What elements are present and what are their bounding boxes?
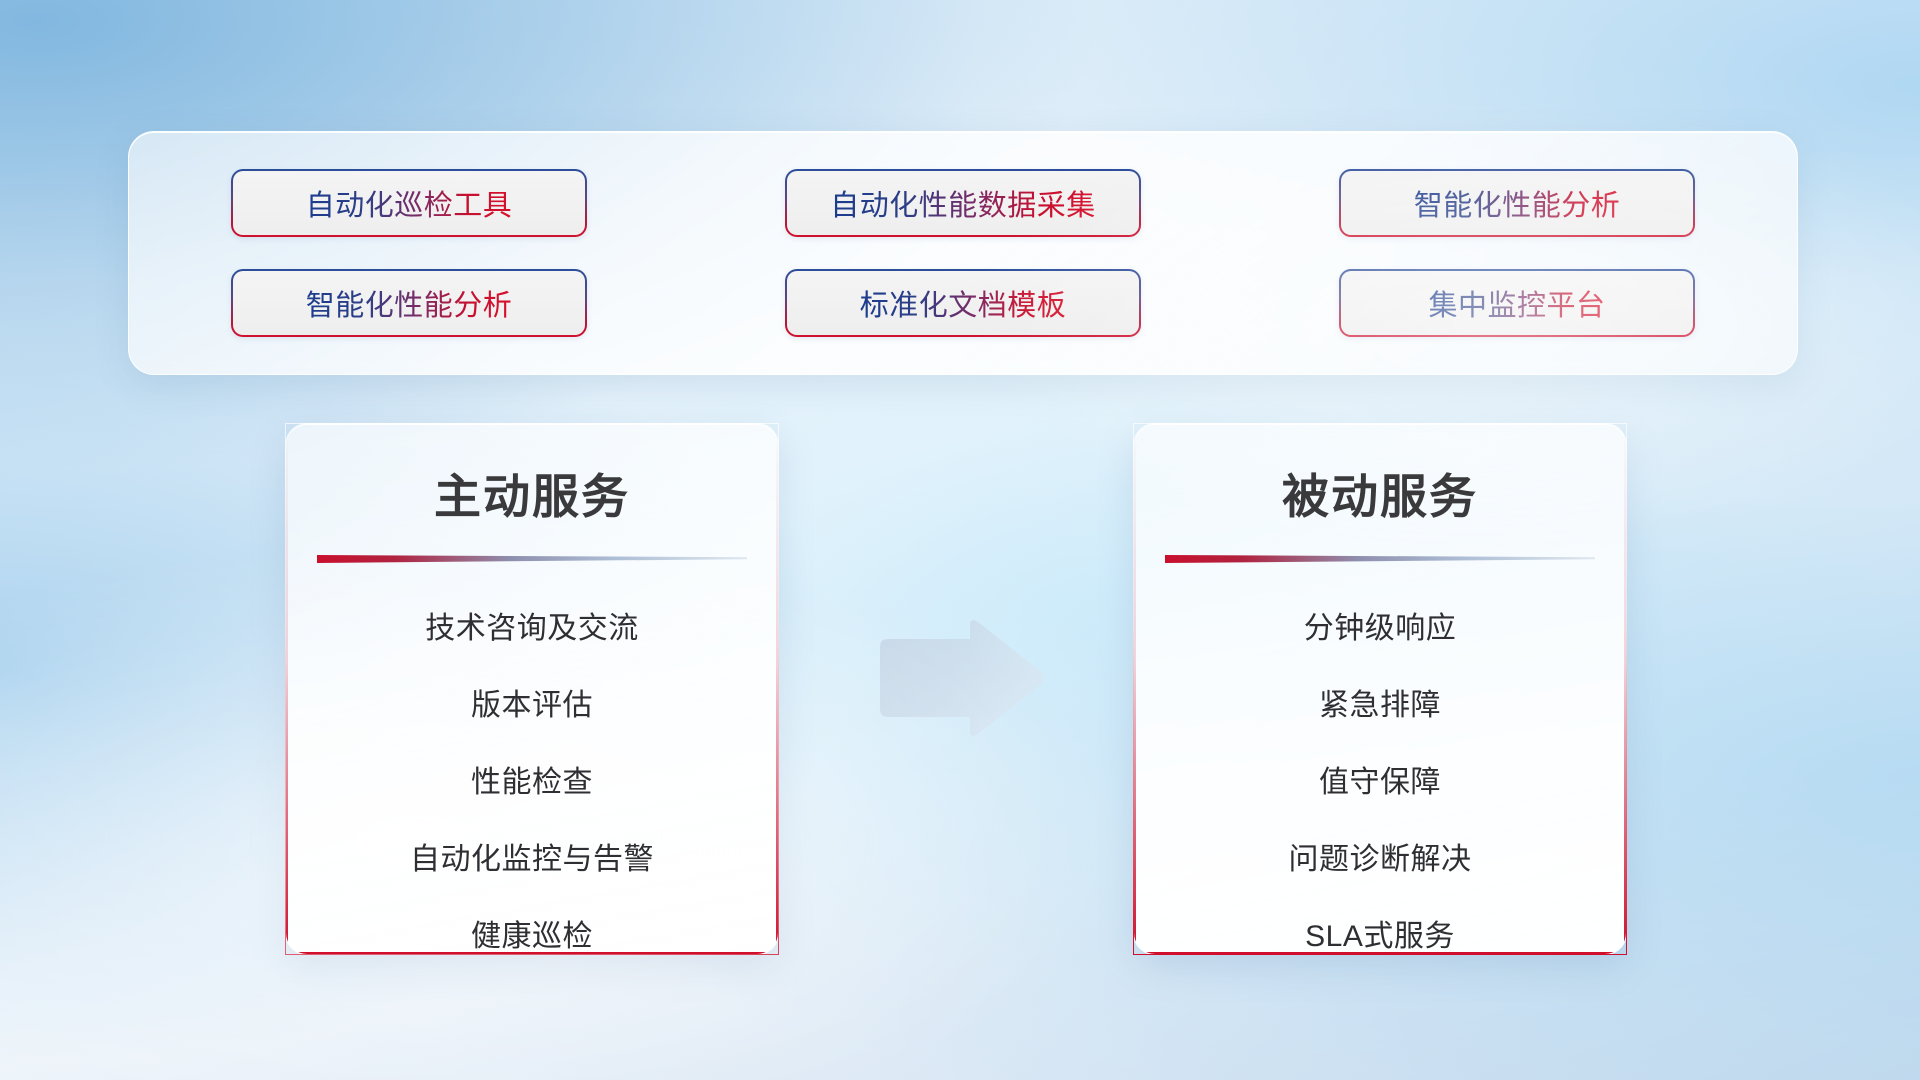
active-service-item: 版本评估 bbox=[471, 680, 593, 724]
passive-service-item: 分钟级响应 bbox=[1304, 603, 1457, 647]
capability-chip-5[interactable]: 标准化文档模板 bbox=[785, 269, 1141, 337]
capability-chip-3-label: 智能化性能分析 bbox=[1414, 182, 1621, 224]
capability-chip-grid: 自动化巡检工具 自动化性能数据采集 智能化性能分析 智能化性能分析 bbox=[231, 169, 1695, 337]
capability-chip-1-label: 自动化巡检工具 bbox=[306, 182, 513, 224]
active-service-item: 自动化监控与告警 bbox=[410, 834, 654, 878]
right-arrow-icon bbox=[872, 617, 1046, 739]
capability-chip-6-surface: 集中监控平台 bbox=[1341, 271, 1693, 335]
capability-chip-6[interactable]: 集中监控平台 bbox=[1339, 269, 1695, 337]
passive-service-item: 紧急排障 bbox=[1319, 680, 1441, 724]
active-service-item: 性能检查 bbox=[471, 757, 593, 801]
capability-chip-3[interactable]: 智能化性能分析 bbox=[1339, 169, 1695, 237]
capability-chip-1[interactable]: 自动化巡检工具 bbox=[231, 169, 587, 237]
capability-chip-3-surface: 智能化性能分析 bbox=[1341, 171, 1693, 235]
capability-chip-4-surface: 智能化性能分析 bbox=[233, 271, 585, 335]
active-service-item-list: 技术咨询及交流 版本评估 性能检查 自动化监控与告警 健康巡检 bbox=[286, 603, 778, 955]
active-service-item: 技术咨询及交流 bbox=[425, 603, 639, 647]
active-card-right-edge bbox=[776, 424, 778, 954]
capability-chip-4-label: 智能化性能分析 bbox=[306, 282, 513, 324]
passive-card-divider bbox=[1165, 553, 1595, 563]
passive-service-item-list: 分钟级响应 紧急排障 值守保障 问题诊断解决 SLA式服务 bbox=[1134, 603, 1626, 955]
capability-chip-2-surface: 自动化性能数据采集 bbox=[787, 171, 1139, 235]
passive-service-item: 问题诊断解决 bbox=[1289, 834, 1472, 878]
slide-canvas: 自动化巡检工具 自动化性能数据采集 智能化性能分析 智能化性能分析 bbox=[0, 0, 1920, 1080]
passive-service-item: SLA式服务 bbox=[1305, 911, 1455, 955]
passive-card-right-edge bbox=[1624, 424, 1626, 954]
capability-chip-5-label: 标准化文档模板 bbox=[860, 282, 1067, 324]
capability-chip-5-surface: 标准化文档模板 bbox=[787, 271, 1139, 335]
capability-chip-panel: 自动化巡检工具 自动化性能数据采集 智能化性能分析 智能化性能分析 bbox=[128, 131, 1798, 375]
passive-service-item: 值守保障 bbox=[1319, 757, 1441, 801]
capability-chip-2-label: 自动化性能数据采集 bbox=[830, 182, 1096, 224]
active-service-title: 主动服务 bbox=[286, 458, 778, 527]
capability-chip-1-surface: 自动化巡检工具 bbox=[233, 171, 585, 235]
passive-service-title: 被动服务 bbox=[1134, 458, 1626, 527]
capability-chip-2[interactable]: 自动化性能数据采集 bbox=[785, 169, 1141, 237]
capability-chip-4[interactable]: 智能化性能分析 bbox=[231, 269, 587, 337]
active-service-card: 主动服务 技术咨询及交流 版本评估 性能检查 自动化监控与告警 bbox=[285, 423, 779, 955]
passive-service-card: 被动服务 分钟级响应 紧急排障 值守保障 问题诊断解决 bbox=[1133, 423, 1627, 955]
active-service-item: 健康巡检 bbox=[471, 911, 593, 955]
capability-chip-6-label: 集中监控平台 bbox=[1428, 282, 1605, 324]
active-card-divider bbox=[317, 553, 747, 563]
